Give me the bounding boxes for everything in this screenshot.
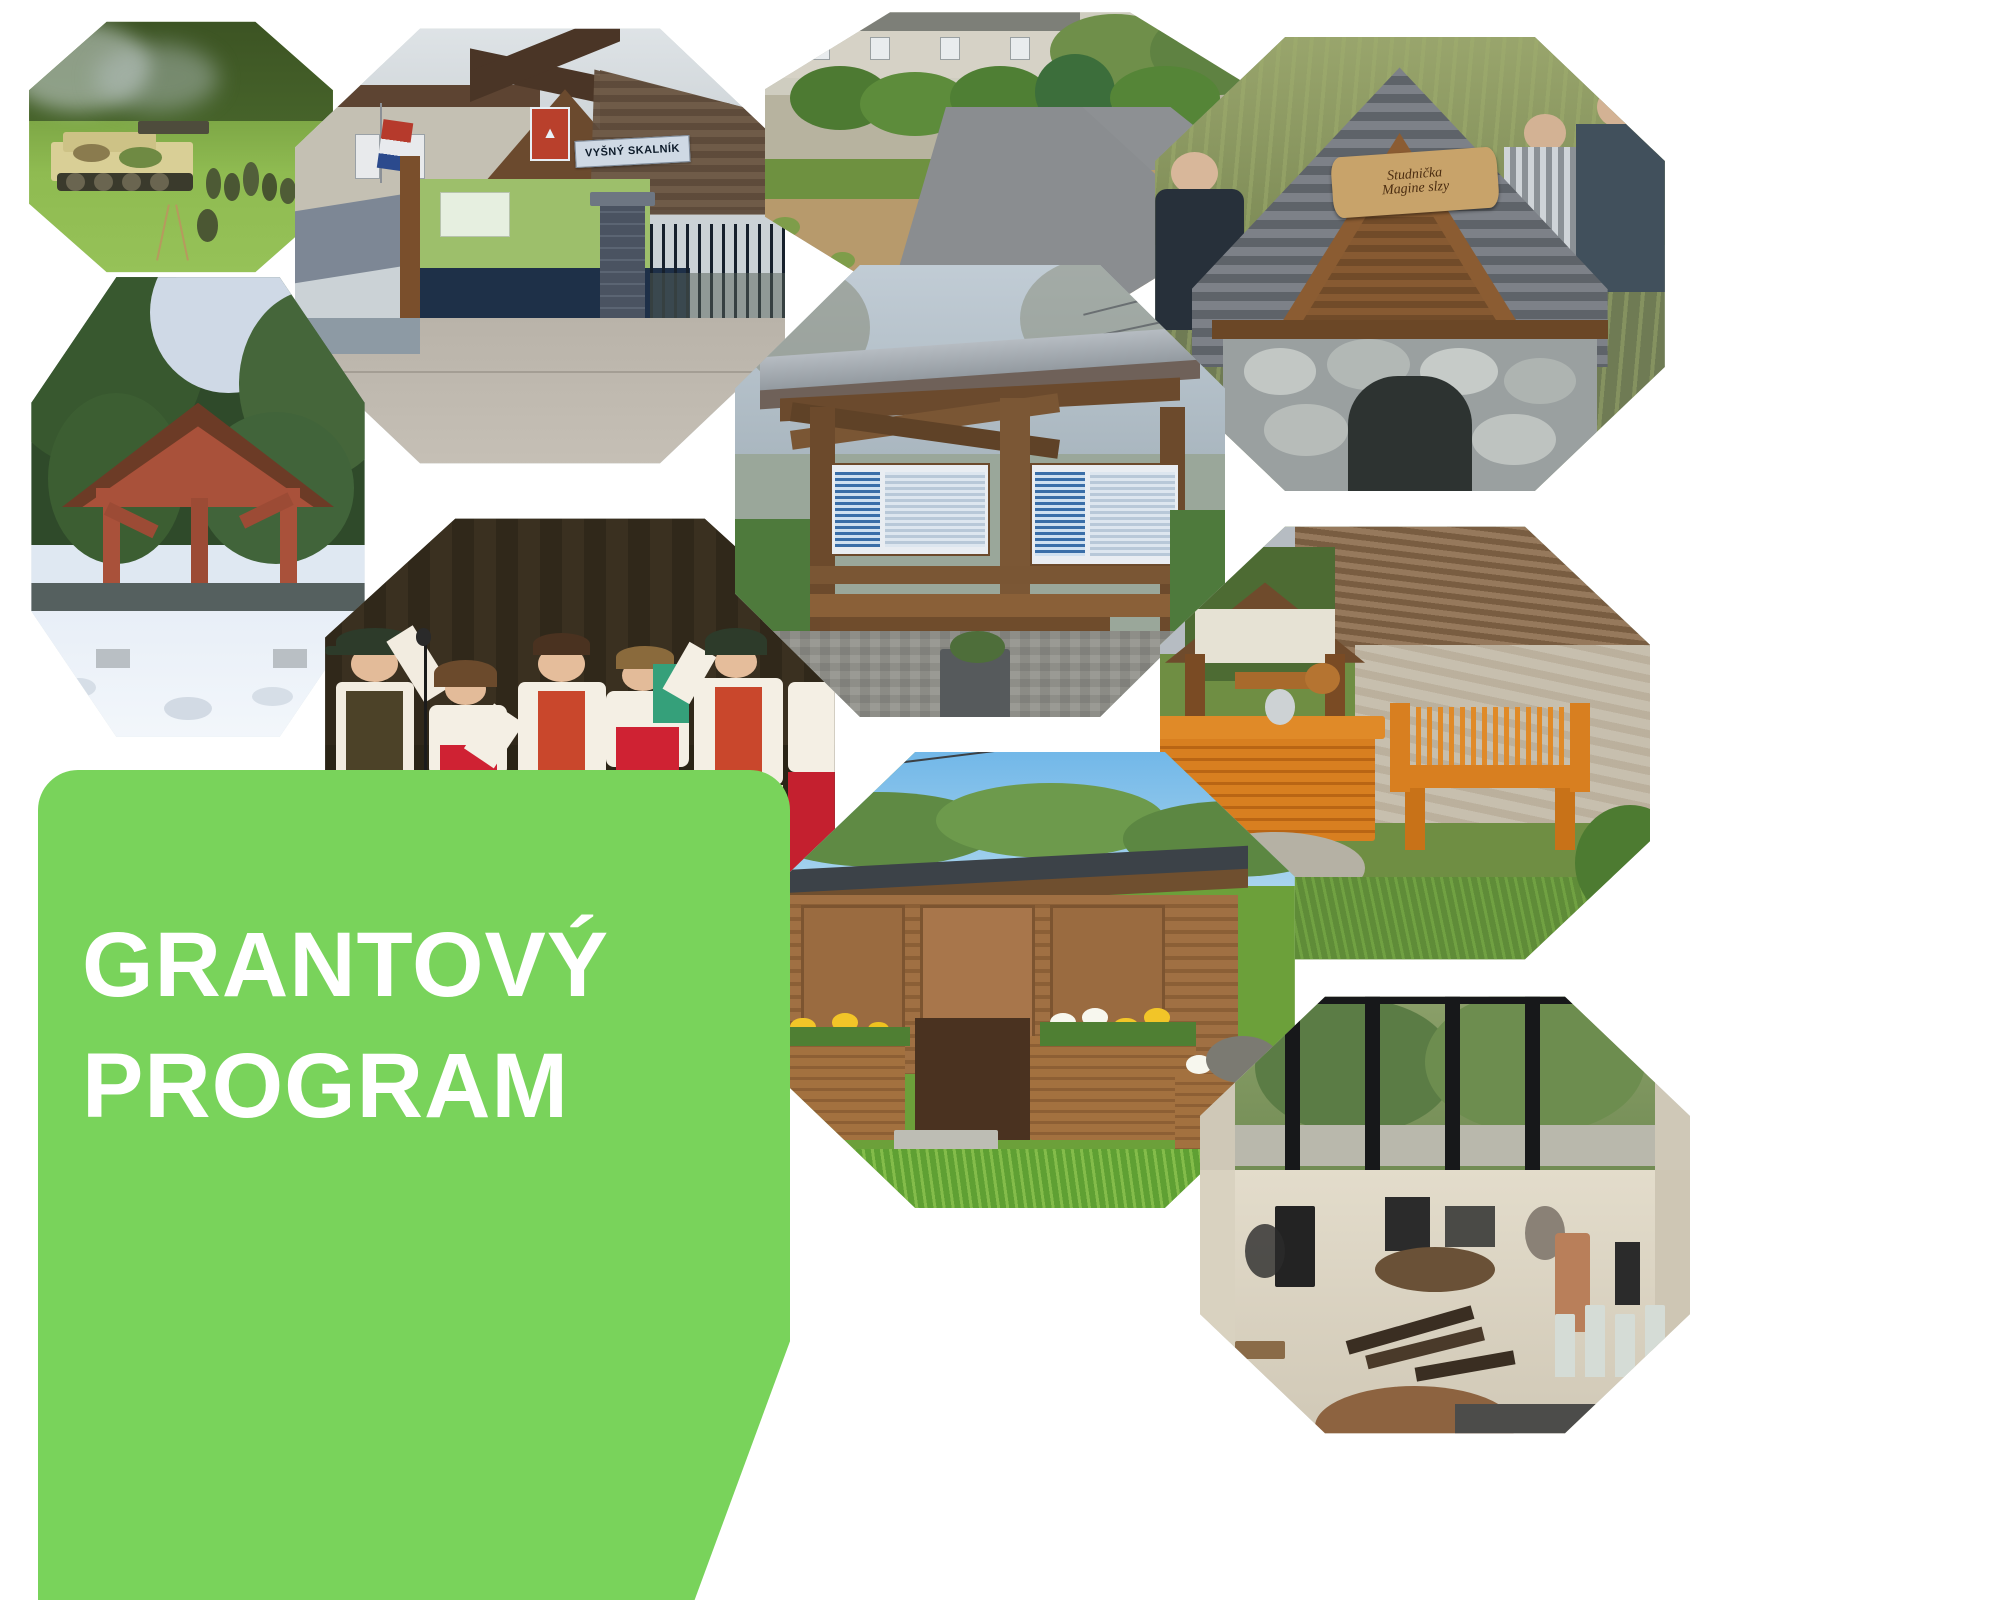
photo-tile-museum-window[interactable] (1195, 990, 1695, 1440)
photo-tile-info-shelter[interactable] (730, 258, 1230, 724)
photo-tile-studnicka-well[interactable]: Studnička Magine slzy (1150, 30, 1670, 498)
title-line-1: GRANTOVÝ (82, 905, 722, 1026)
scene-studnicka-well: Studnička Magine slzy (1150, 30, 1670, 498)
title-banner (38, 770, 790, 1600)
well-name-sign: Studnička Magine slzy (1330, 146, 1500, 218)
title-banner-text: GRANTOVÝ PROGRAM (82, 905, 722, 1148)
scene-winter-shelter (28, 270, 368, 744)
photo-tile-winter-shelter[interactable] (28, 270, 368, 744)
coat-of-arms-icon: ▲ (530, 107, 570, 161)
poster-canvas: ▲ VYŠNÝ SKALNÍK (0, 0, 2000, 1600)
scene-info-shelter (730, 258, 1230, 724)
photo-tile-tank-reenactment[interactable] (26, 18, 336, 276)
photo-tile-vysny-skalnik-shelter[interactable]: ▲ VYŠNÝ SKALNÍK (290, 22, 790, 470)
title-line-2: PROGRAM (82, 1026, 722, 1147)
scene-museum-window (1195, 990, 1695, 1440)
scene-vysny-skalnik-shelter: ▲ VYŠNÝ SKALNÍK (290, 22, 790, 470)
well-sign-line2: Magine slzy (1382, 180, 1450, 199)
scene-tank-reenactment (26, 18, 336, 276)
